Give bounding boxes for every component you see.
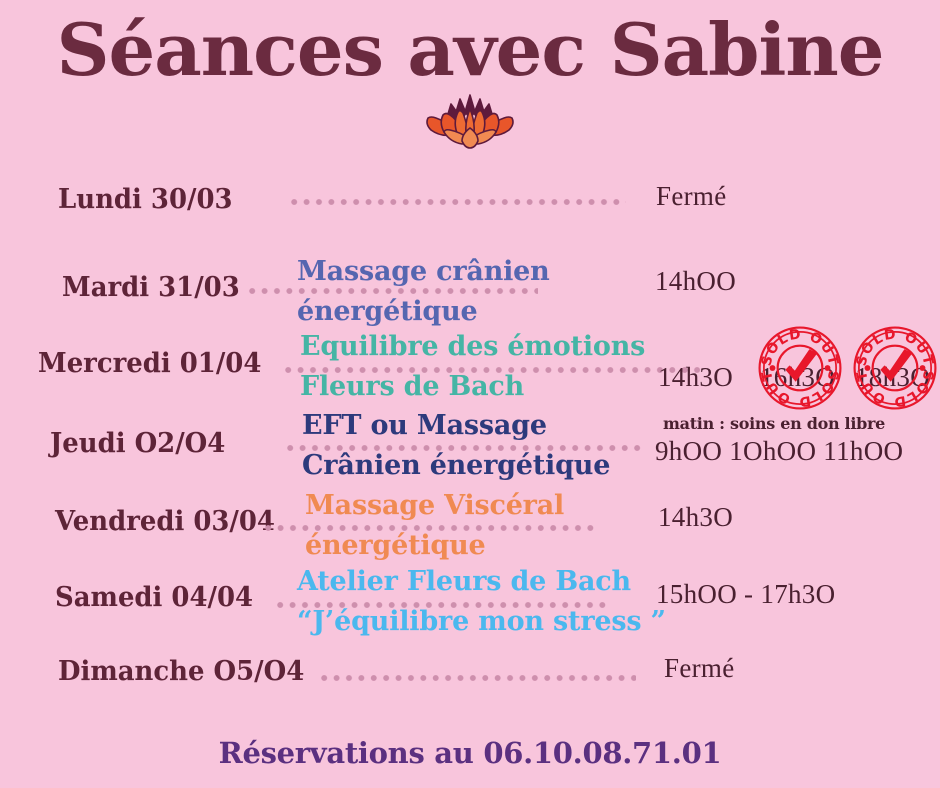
leader-dots: [288, 198, 626, 206]
poster-header: Séances avec Sabine: [0, 0, 940, 152]
row-activity: Equilibre des émotions Fleurs de Bach: [300, 327, 645, 407]
row-day-label: Jeudi O2/O4: [50, 428, 225, 459]
footer: Réservations au 06.10.08.71.01: [0, 736, 940, 770]
table-row: Jeudi O2/O4 EFT ou Massage Crânien énerg…: [0, 410, 940, 488]
row-note: matin : soins en don libre: [663, 414, 885, 433]
table-row: Dimanche O5/O4 Fermé: [0, 646, 940, 708]
page-title: Séances avec Sabine: [0, 0, 940, 88]
row-time: 14hOO: [655, 266, 736, 297]
row-day-label: Samedi 04/04: [55, 582, 253, 613]
poster-canvas: Séances avec Sabine: [0, 0, 940, 788]
row-time: Fermé: [656, 181, 726, 212]
table-row: Samedi 04/04 Atelier Fleurs de Bach “J’é…: [0, 566, 940, 646]
row-time: Fermé: [664, 653, 734, 684]
row-activity-line1: Massage crânien: [297, 256, 550, 287]
table-row: Vendredi 03/04 Massage Viscéral énergéti…: [0, 488, 940, 566]
row-time: 15hOO - 17h3O: [656, 579, 835, 610]
row-day-label: Lundi 30/03: [58, 184, 233, 215]
schedule-table: Lundi 30/03 Fermé Mardi 31/03 Massage cr…: [0, 168, 940, 708]
row-activity: EFT ou Massage Crânien énergétique: [302, 406, 610, 486]
row-activity-line2: Crânien énergétique: [302, 446, 610, 486]
sold-out-stamp-icon: SOLD OUT SOLD OUT: [852, 325, 938, 411]
row-activity-line1: Massage Viscéral: [305, 490, 564, 521]
row-day-label: Dimanche O5/O4: [58, 656, 304, 687]
row-activity-line2: “J’équilibre mon stress ”: [297, 602, 666, 642]
table-row: Mardi 31/03 Massage crânien énergétique …: [0, 244, 940, 326]
row-activity-line1: Atelier Fleurs de Bach: [297, 566, 631, 597]
row-day-label: Mardi 31/03: [62, 272, 240, 303]
row-activity: Massage crânien énergétique: [297, 252, 550, 332]
svg-text:SOLD OUT: SOLD OUT: [759, 326, 842, 367]
table-row: Lundi 30/03 Fermé: [0, 168, 940, 244]
row-activity: Massage Viscéral énergétique: [305, 486, 564, 566]
row-activity-line2: énergétique: [305, 526, 564, 566]
row-activity: Atelier Fleurs de Bach “J’équilibre mon …: [297, 562, 666, 642]
row-activity-line1: Equilibre des émotions: [300, 331, 645, 362]
row-day-label: Mercredi 01/04: [38, 348, 261, 379]
lotus-flower-icon: [0, 90, 940, 152]
reservation-phone-text: Réservations au 06.10.08.71.01: [219, 736, 722, 770]
sold-out-stamp-icon: SOLD OUT SOLD OUT: [757, 325, 843, 411]
row-activity-line1: EFT ou Massage: [302, 410, 547, 441]
row-day-label: Vendredi 03/04: [55, 506, 275, 537]
row-time: 14h3O: [658, 362, 733, 393]
svg-text:SOLD OUT: SOLD OUT: [854, 326, 937, 367]
table-row: Mercredi 01/04 Equilibre des émotions Fl…: [0, 326, 940, 410]
row-time: 14h3O: [658, 502, 733, 533]
row-activity-line2: Fleurs de Bach: [300, 367, 645, 407]
row-time: 9hOO 1OhOO 11hOO: [655, 436, 903, 467]
leader-dots: [318, 674, 636, 682]
